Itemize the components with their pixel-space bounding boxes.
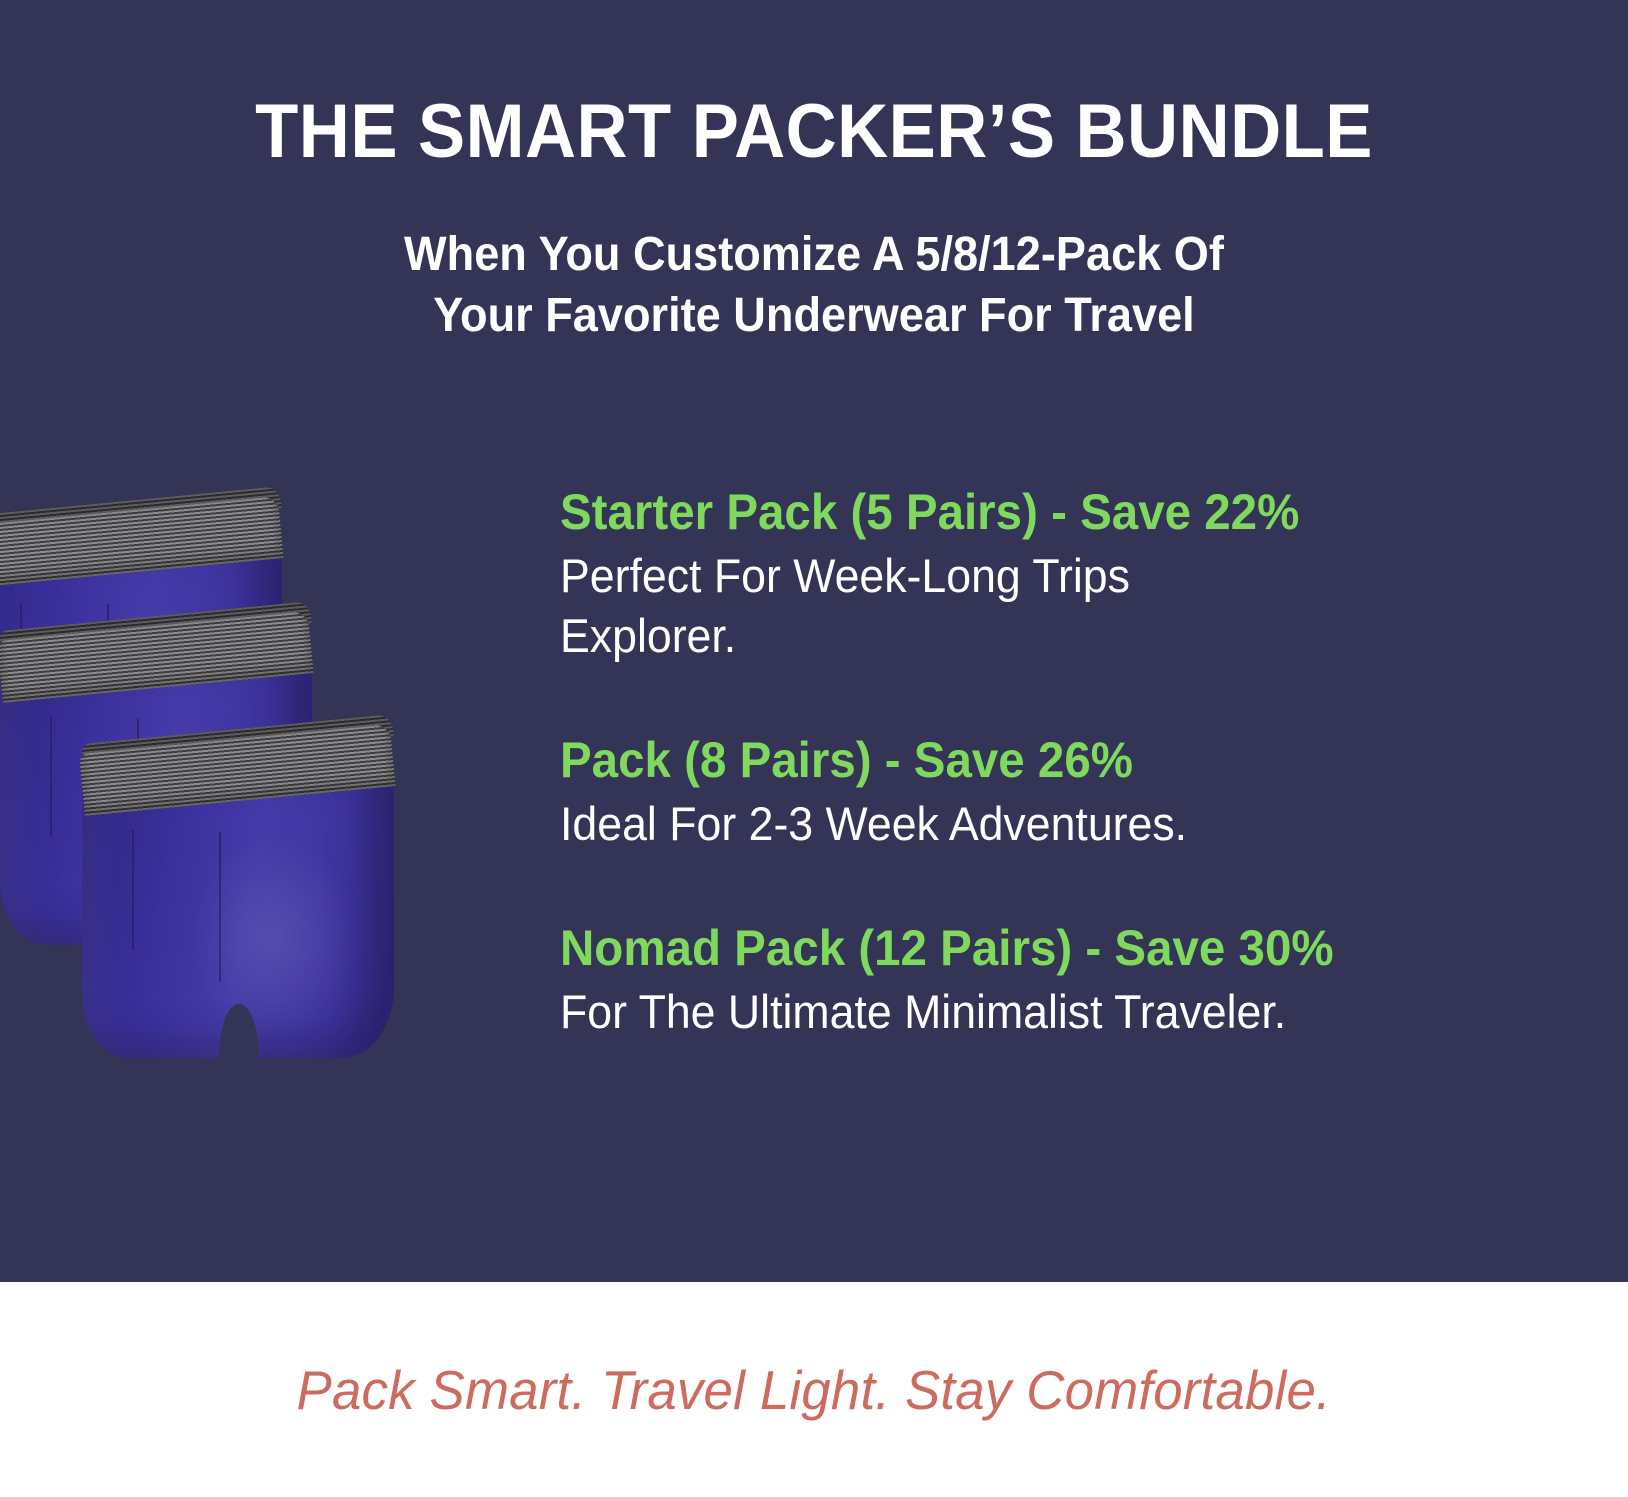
tier-title: Starter Pack (5 Pairs) - Save 22% <box>560 484 1520 540</box>
footer-tagline: Pack Smart. Travel Light. Stay Comfortab… <box>297 1358 1331 1422</box>
center-seam <box>219 832 221 982</box>
tier-title: Pack (8 Pairs) - Save 26% <box>560 732 1520 788</box>
footer-band: Pack Smart. Travel Light. Stay Comfortab… <box>0 1282 1628 1497</box>
tier-title: Nomad Pack (12 Pairs) - Save 30% <box>560 920 1520 976</box>
page-title: THE SMART PACKER’S BUNDLE <box>57 94 1571 170</box>
subtitle: When You Customize A 5/8/12-Pack Of Your… <box>49 224 1579 347</box>
bundle-tier-list: Starter Pack (5 Pairs) - Save 22% Perfec… <box>560 484 1570 1043</box>
tier-description-line-1: For The Ultimate Minimalist Traveler. <box>560 982 1520 1042</box>
bundle-tier-pack: Pack (8 Pairs) - Save 26% Ideal For 2-3 … <box>560 732 1570 854</box>
boxer-brief-front <box>82 728 394 1058</box>
subtitle-line-2: Your Favorite Underwear For Travel <box>49 285 1579 346</box>
bundle-tier-starter: Starter Pack (5 Pairs) - Save 22% Perfec… <box>560 484 1570 666</box>
brief-fabric-body <box>82 774 394 1058</box>
subtitle-line-1: When You Customize A 5/8/12-Pack Of <box>49 224 1579 285</box>
hero-panel: THE SMART PACKER’S BUNDLE When You Custo… <box>0 0 1628 1282</box>
product-image-boxer-briefs <box>0 500 482 1060</box>
leg-opening-notch <box>219 1004 259 1062</box>
side-seam <box>132 830 134 950</box>
promo-banner: THE SMART PACKER’S BUNDLE When You Custo… <box>0 0 1628 1497</box>
tier-description-line-1: Ideal For 2-3 Week Adventures. <box>560 794 1520 854</box>
tier-description-line-1: Perfect For Week-Long Trips <box>560 546 1520 606</box>
tier-description-line-2: Explorer. <box>560 606 1520 666</box>
bundle-tier-nomad: Nomad Pack (12 Pairs) - Save 30% For The… <box>560 920 1570 1042</box>
tier-description: Ideal For 2-3 Week Adventures. <box>560 794 1520 854</box>
tier-description: Perfect For Week-Long Trips Explorer. <box>560 546 1520 666</box>
tier-description: For The Ultimate Minimalist Traveler. <box>560 982 1520 1042</box>
side-seam <box>50 717 52 837</box>
